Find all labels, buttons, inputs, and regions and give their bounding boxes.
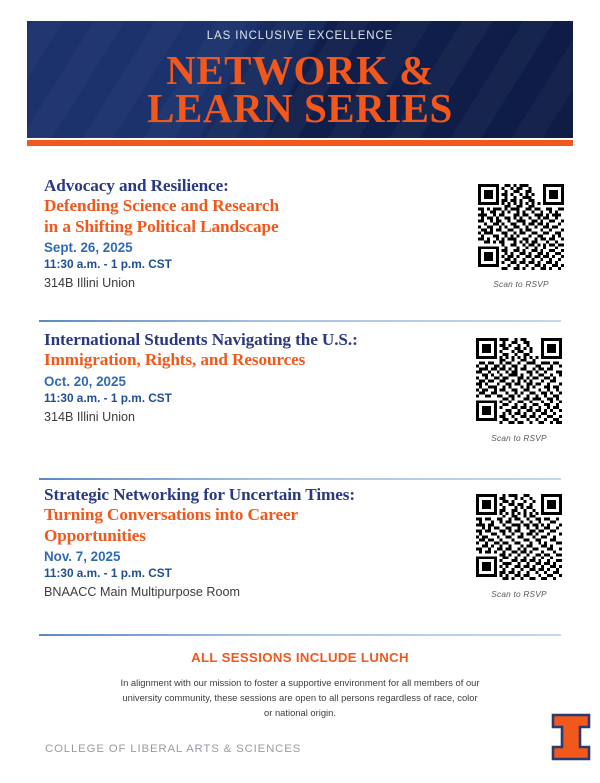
- event-time: 11:30 a.m. - 1 p.m. CST: [44, 257, 464, 272]
- event-subtitle-line-2: Opportunities: [44, 526, 464, 546]
- qr-code-block[interactable]: Scan to RSVP: [466, 184, 576, 289]
- qr-code-block[interactable]: Scan to RSVP: [464, 338, 574, 443]
- event-location: BNAACC Main Multipurpose Room: [44, 584, 464, 601]
- event-title: Advocacy and Resilience:: [44, 176, 464, 196]
- event-location: 314B Illini Union: [44, 275, 464, 292]
- banner-title: NETWORK & LEARN SERIES: [27, 51, 573, 128]
- section-divider-2: [39, 478, 561, 480]
- event-item: Advocacy and Resilience: Defending Scien…: [44, 176, 464, 292]
- qr-code-block[interactable]: Scan to RSVP: [464, 494, 574, 599]
- qr-code-icon[interactable]: [476, 338, 562, 424]
- event-subtitle-line-1: Immigration, Rights, and Resources: [44, 350, 464, 370]
- banner-content: LAS INCLUSIVE EXCELLENCE NETWORK & LEARN…: [27, 21, 573, 128]
- event-date: Oct. 20, 2025: [44, 373, 464, 390]
- event-item: Strategic Networking for Uncertain Times…: [44, 485, 464, 601]
- qr-code-icon[interactable]: [476, 494, 562, 580]
- banner-title-line-1: NETWORK &: [27, 51, 573, 90]
- event-date: Sept. 26, 2025: [44, 239, 464, 256]
- event-time: 11:30 a.m. - 1 p.m. CST: [44, 391, 464, 406]
- section-divider-3: [39, 634, 561, 636]
- qr-caption: Scan to RSVP: [466, 279, 576, 289]
- illinois-block-i-icon: [551, 713, 591, 761]
- event-date: Nov. 7, 2025: [44, 548, 464, 565]
- event-title: Strategic Networking for Uncertain Times…: [44, 485, 464, 505]
- lunch-note: ALL SESSIONS INCLUDE LUNCH: [0, 650, 600, 665]
- event-time: 11:30 a.m. - 1 p.m. CST: [44, 566, 464, 581]
- qr-code-icon[interactable]: [478, 184, 564, 270]
- event-location: 314B Illini Union: [44, 409, 464, 426]
- event-subtitle-line-2: in a Shifting Political Landscape: [44, 217, 464, 237]
- college-label: COLLEGE OF LIBERAL ARTS & SCIENCES: [45, 743, 301, 755]
- qr-caption: Scan to RSVP: [464, 433, 574, 443]
- disclaimer-text: In alignment with our mission to foster …: [118, 676, 482, 721]
- banner-kicker: LAS INCLUSIVE EXCELLENCE: [27, 30, 573, 44]
- event-title: International Students Navigating the U.…: [44, 330, 464, 350]
- qr-caption: Scan to RSVP: [464, 589, 574, 599]
- banner-orange-rule: [27, 140, 573, 146]
- header-banner: LAS INCLUSIVE EXCELLENCE NETWORK & LEARN…: [27, 21, 573, 138]
- section-divider-1: [39, 320, 561, 322]
- event-subtitle-line-1: Defending Science and Research: [44, 196, 464, 216]
- event-subtitle-line-1: Turning Conversations into Career: [44, 505, 464, 525]
- banner-title-line-2: LEARN SERIES: [27, 89, 573, 128]
- event-item: International Students Navigating the U.…: [44, 330, 464, 426]
